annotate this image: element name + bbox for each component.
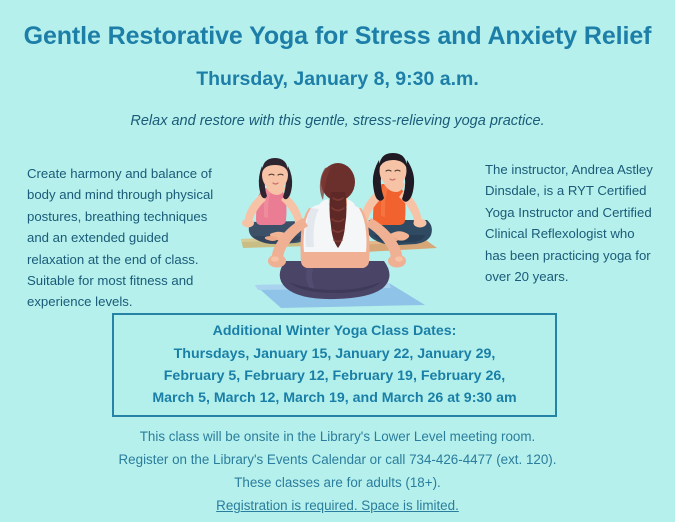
footer-line-location: This class will be onsite in the Library…: [0, 425, 675, 448]
class-description-text: Create harmony and balance of body and m…: [27, 163, 227, 313]
page-title: Gentle Restorative Yoga for Stress and A…: [0, 22, 675, 51]
class-description-column: Create harmony and balance of body and m…: [27, 163, 227, 313]
event-tagline: Relax and restore with this gentle, stre…: [0, 113, 675, 129]
yoga-illustration: [237, 142, 442, 314]
footer-line-register: Register on the Library's Events Calenda…: [0, 448, 675, 471]
footer-line-registration-required: Registration is required. Space is limit…: [0, 494, 675, 517]
additional-dates-box: Additional Winter Yoga Class Dates: Thur…: [112, 313, 557, 417]
footer-line-age: These classes are for adults (18+).: [0, 471, 675, 494]
footer-info: This class will be onsite in the Library…: [0, 425, 675, 517]
dates-line: Thursdays, January 15, January 22, Janua…: [174, 343, 496, 365]
event-datetime: Thursday, January 8, 9:30 a.m.: [0, 68, 675, 90]
instructor-bio-column: The instructor, Andrea Astley Dinsdale, …: [485, 159, 657, 287]
instructor-bio-text: The instructor, Andrea Astley Dinsdale, …: [485, 159, 657, 287]
dates-line: February 5, February 12, February 19, Fe…: [164, 365, 505, 387]
dates-line: March 5, March 12, March 19, and March 2…: [152, 387, 516, 409]
yoga-class-flyer: Gentle Restorative Yoga for Stress and A…: [0, 0, 675, 522]
dates-line: Additional Winter Yoga Class Dates:: [213, 320, 457, 342]
figure-back-left: [241, 158, 311, 248]
